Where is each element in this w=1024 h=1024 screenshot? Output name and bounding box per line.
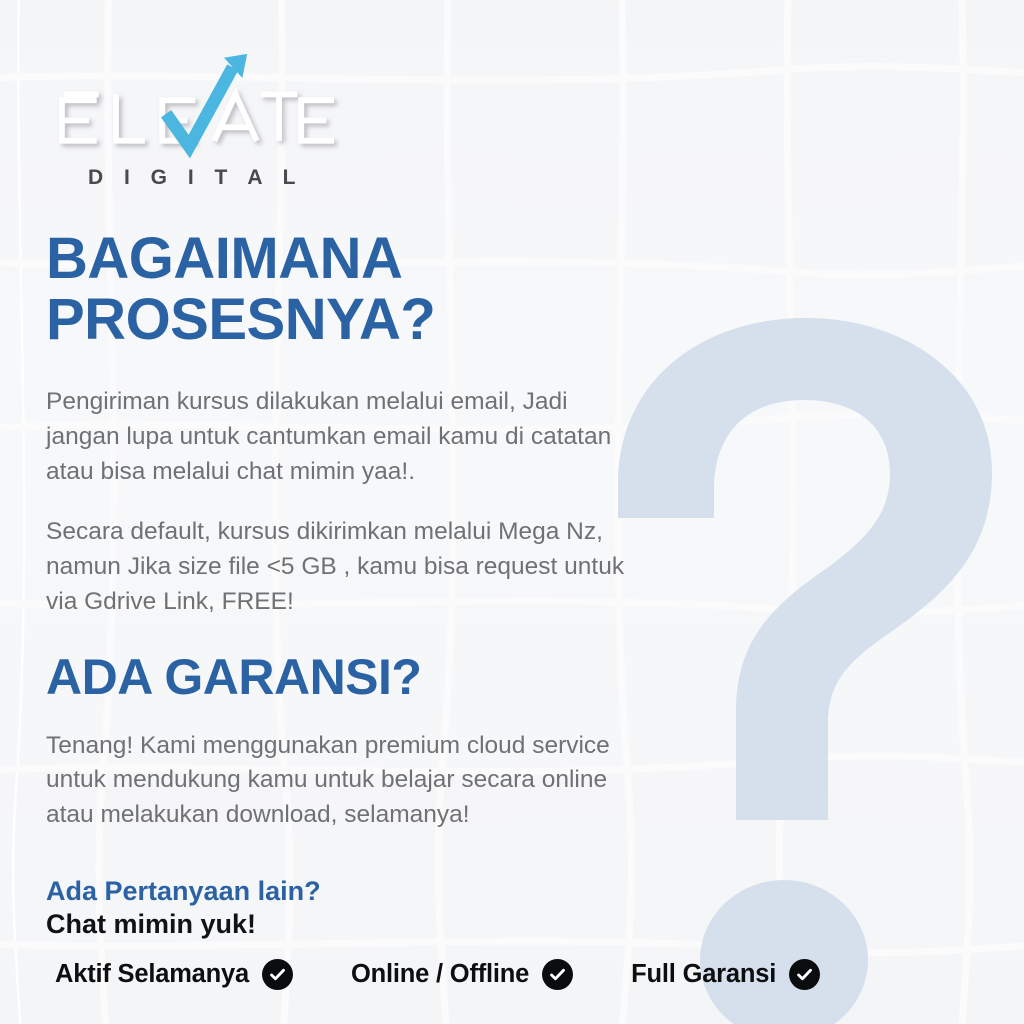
check-circle-icon <box>262 959 293 990</box>
footer-badges: Aktif Selamanya Online / Offline Full Ga… <box>0 959 1024 990</box>
badge-label: Aktif Selamanya <box>55 960 249 989</box>
paragraph-guarantee: Tenang! Kami menggunakan premium cloud s… <box>46 729 646 833</box>
badge-label: Online / Offline <box>351 960 529 989</box>
paragraph-process-delivery: Pengiriman kursus dilakukan melalui emai… <box>46 385 646 489</box>
check-circle-icon <box>542 959 573 990</box>
logo-subtitle: D I G I T A L <box>88 166 382 190</box>
badge-label: Full Garansi <box>631 960 776 989</box>
badge-aktif-selamanya: Aktif Selamanya <box>55 959 293 990</box>
badge-full-garansi: Full Garansi <box>631 959 820 990</box>
badge-online-offline: Online / Offline <box>351 959 573 990</box>
section-title-guarantee: ADA GARANSI? <box>46 650 646 705</box>
faq-poster: D I G I T A L BAGAIMANA PROSESNYA? Pengi… <box>0 0 1024 1024</box>
heading-line-1: BAGAIMANA <box>46 226 402 291</box>
elevate-wordmark-icon <box>52 52 342 162</box>
content-column: BAGAIMANA PROSESNYA? Pengiriman kursus d… <box>46 228 646 941</box>
check-circle-icon <box>789 959 820 990</box>
paragraph-default-delivery: Secara default, kursus dikirimkan melalu… <box>46 515 646 619</box>
heading-line-2: PROSESNYA? <box>46 287 435 352</box>
cta-action[interactable]: Chat mimin yuk! <box>46 908 646 941</box>
brand-logo: D I G I T A L <box>52 52 382 190</box>
page-title: BAGAIMANA PROSESNYA? <box>46 228 646 351</box>
cta-question: Ada Pertanyaan lain? <box>46 875 646 908</box>
